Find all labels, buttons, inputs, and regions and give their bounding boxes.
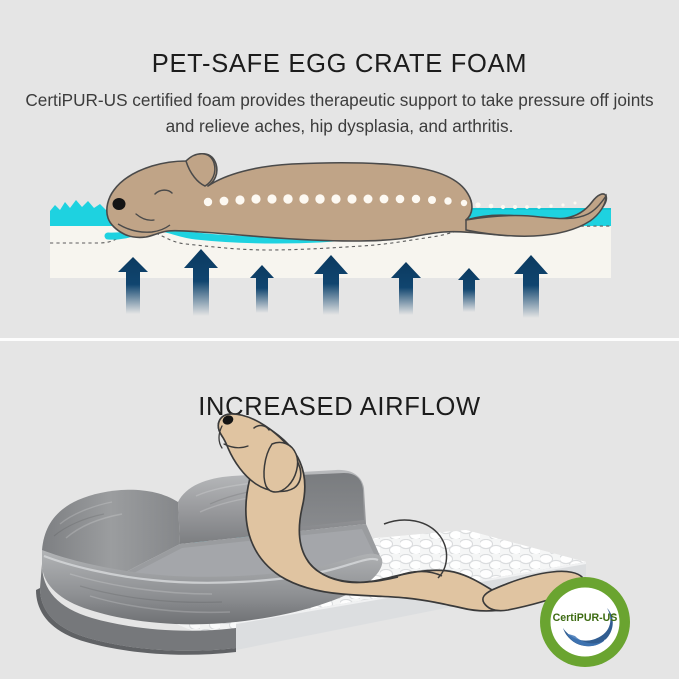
seal-trademark: ® [613, 612, 616, 617]
dog-nose [113, 198, 126, 210]
infographic-page: PET-SAFE EGG CRATE FOAM CertiPUR-US cert… [0, 0, 679, 679]
seal-wordmark: CertiPUR-US [553, 612, 618, 624]
page-title: PET-SAFE EGG CRATE FOAM [0, 50, 679, 79]
certipur-us-seal: CONTAINS CERTIFIED FLEXIBLE POLYURETHANE… [540, 577, 630, 667]
dog-on-foam-cross-section-illustration [0, 138, 679, 328]
dog-on-bolster-bed-illustration: CONTAINS CERTIFIED FLEXIBLE POLYURETHANE… [0, 404, 679, 679]
section-description: CertiPUR-US certified foam provides ther… [16, 87, 663, 139]
dog-silhouette [107, 154, 607, 241]
